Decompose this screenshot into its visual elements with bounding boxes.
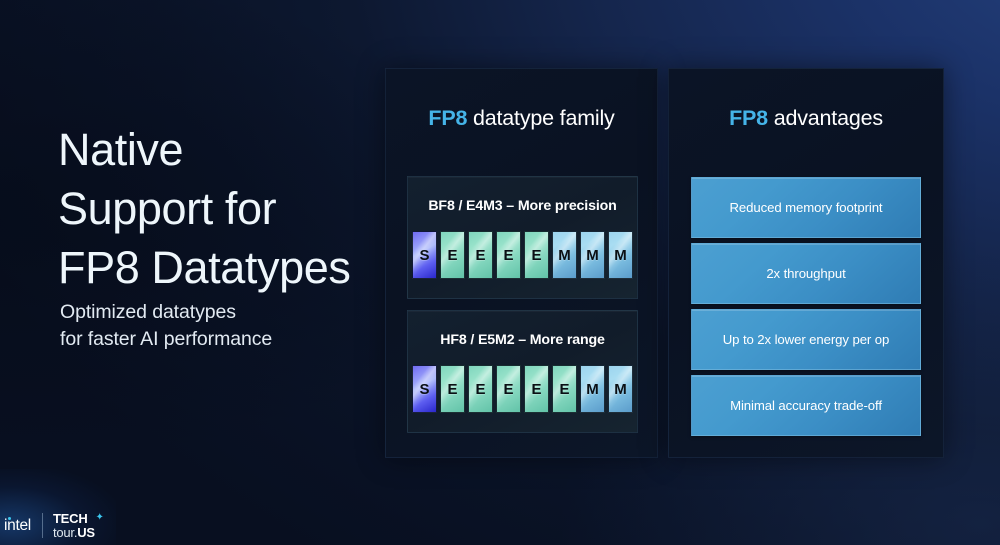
advantage-bar[interactable]: 2x throughput: [691, 243, 921, 304]
advantage-bar[interactable]: Reduced memory footprint: [691, 177, 921, 238]
bit-cell-exponent: E: [524, 365, 549, 413]
title-line-2: Support for: [58, 179, 350, 238]
bit-cell-exponent: E: [552, 365, 577, 413]
panel-title-accent: FP8: [729, 106, 768, 130]
bit-cell-exponent: E: [468, 365, 493, 413]
panel-datatype-family: FP8 datatype family BF8 / E4M3 – More pr…: [385, 68, 658, 458]
panel-title-advantages: FP8 advantages: [669, 106, 943, 131]
panel-title-rest: datatype family: [467, 106, 614, 130]
panel-title-accent: FP8: [428, 106, 467, 130]
advantages-list: Reduced memory footprint 2x throughput U…: [691, 177, 921, 441]
bit-row-bf8: S E E E E M M M: [408, 231, 637, 279]
subtitle-line-2: for faster AI performance: [60, 326, 272, 353]
advantage-bar[interactable]: Minimal accuracy trade-off: [691, 375, 921, 436]
page-subtitle: Optimized datatypes for faster AI perfor…: [60, 299, 272, 353]
page-title: Native Support for FP8 Datatypes: [58, 120, 350, 297]
sparkle-icon: ✦: [96, 513, 104, 523]
title-line-1: Native: [58, 120, 350, 179]
panel-title-datatype-family: FP8 datatype family: [386, 106, 657, 131]
bit-cell-mantissa: M: [580, 365, 605, 413]
bit-cell-exponent: E: [440, 365, 465, 413]
title-line-3: FP8 Datatypes: [58, 238, 350, 297]
datatype-card-title: BF8 / E4M3 – More precision: [408, 198, 637, 214]
datatype-card-hf8[interactable]: HF8 / E5M2 – More range S E E E E E M M: [407, 310, 638, 433]
intel-logo: intel: [4, 518, 42, 534]
bit-cell-exponent: E: [440, 231, 465, 279]
techtour-logo: TECH tour.US ✦: [53, 512, 95, 539]
bit-cell-exponent: E: [496, 231, 521, 279]
panel-title-rest: advantages: [768, 106, 883, 130]
logo-divider: [42, 513, 43, 538]
bit-cell-exponent: E: [468, 231, 493, 279]
footer-bar: intel TECH tour.US ✦: [0, 497, 1000, 545]
techtour-top-text: TECH: [53, 512, 95, 525]
subtitle-line-1: Optimized datatypes: [60, 299, 272, 326]
bit-cell-mantissa: M: [608, 365, 633, 413]
bit-cell-mantissa: M: [608, 231, 633, 279]
advantage-bar[interactable]: Up to 2x lower energy per op: [691, 309, 921, 370]
bit-row-hf8: S E E E E E M M: [408, 365, 637, 413]
bit-cell-mantissa: M: [580, 231, 605, 279]
bit-cell-exponent: E: [524, 231, 549, 279]
panel-fp8-advantages: FP8 advantages Reduced memory footprint …: [668, 68, 944, 458]
datatype-card-title: HF8 / E5M2 – More range: [408, 332, 637, 348]
bit-cell-exponent: E: [496, 365, 521, 413]
datatype-card-bf8[interactable]: BF8 / E4M3 – More precision S E E E E M …: [407, 176, 638, 299]
bit-cell-sign: S: [412, 231, 437, 279]
logo-row: intel TECH tour.US ✦: [4, 512, 95, 539]
slide-root: Native Support for FP8 Datatypes Optimiz…: [0, 0, 1000, 545]
bit-cell-sign: S: [412, 365, 437, 413]
techtour-bottom-text: tour.US: [53, 526, 95, 539]
bit-cell-mantissa: M: [552, 231, 577, 279]
